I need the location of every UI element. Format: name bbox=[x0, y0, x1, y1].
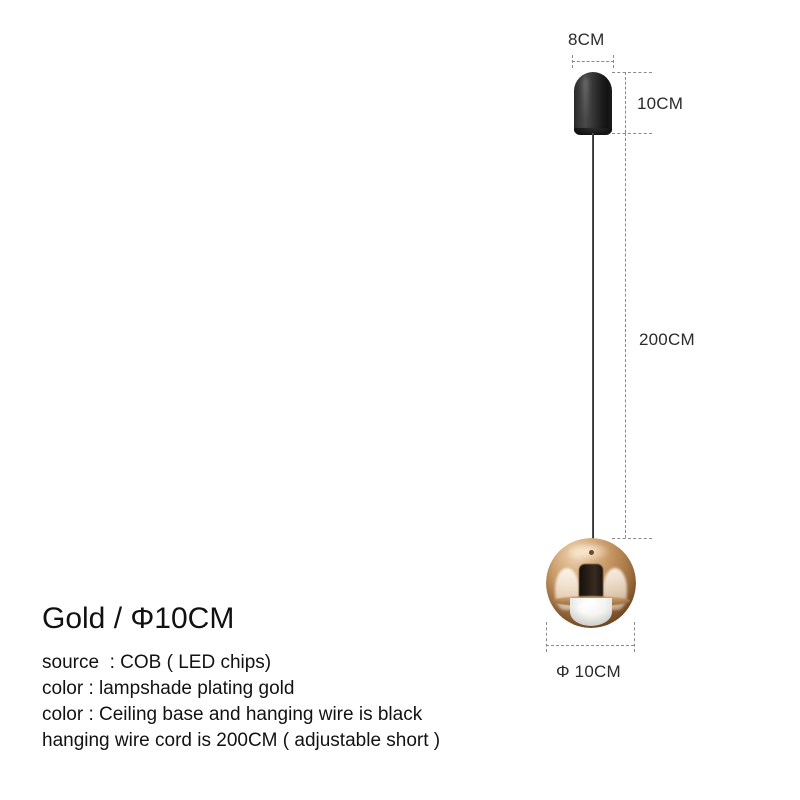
dimension-label-globe-diameter: Φ 10CM bbox=[556, 662, 621, 682]
dimension-tick-canopy-width-left bbox=[572, 55, 573, 68]
dimension-label-cord-length: 200CM bbox=[639, 330, 695, 350]
product-spec-diagram: 8CM 10CM 200CM Φ 10CM Gold / Φ10CM sourc… bbox=[0, 0, 800, 800]
product-title: Gold / Φ10CM bbox=[42, 602, 234, 636]
dimension-tick-canopy-width-right bbox=[613, 55, 614, 68]
dimension-line-canopy-width bbox=[572, 61, 614, 62]
dimension-label-canopy-height: 10CM bbox=[637, 94, 683, 114]
spec-line-base-color: color : Ceiling base and hanging wire is… bbox=[42, 704, 422, 726]
dimension-tick-diameter-left bbox=[546, 622, 547, 652]
gold-globe-lampshade bbox=[546, 538, 636, 628]
dimension-extension-canopy-bottom bbox=[612, 133, 652, 134]
dimension-line-canopy-height bbox=[625, 72, 626, 133]
dimension-line-globe-diameter bbox=[546, 645, 634, 646]
spec-line-source: source : COB ( LED chips) bbox=[42, 652, 271, 674]
ceiling-base-canopy bbox=[574, 72, 612, 133]
canopy-gloss-highlight bbox=[582, 78, 589, 118]
globe-edge-shading bbox=[546, 538, 636, 628]
dimension-tick-diameter-right bbox=[634, 622, 635, 652]
dimension-extension-cord-bottom bbox=[612, 538, 652, 539]
dimension-label-canopy-width: 8CM bbox=[568, 30, 605, 50]
dimension-extension-canopy-top bbox=[612, 72, 652, 73]
spec-line-cord-length: hanging wire cord is 200CM ( adjustable … bbox=[42, 730, 440, 752]
spec-line-lampshade-color: color : lampshade plating gold bbox=[42, 678, 294, 700]
dimension-line-cord-length bbox=[625, 133, 626, 538]
hanging-wire-cord bbox=[592, 133, 594, 540]
